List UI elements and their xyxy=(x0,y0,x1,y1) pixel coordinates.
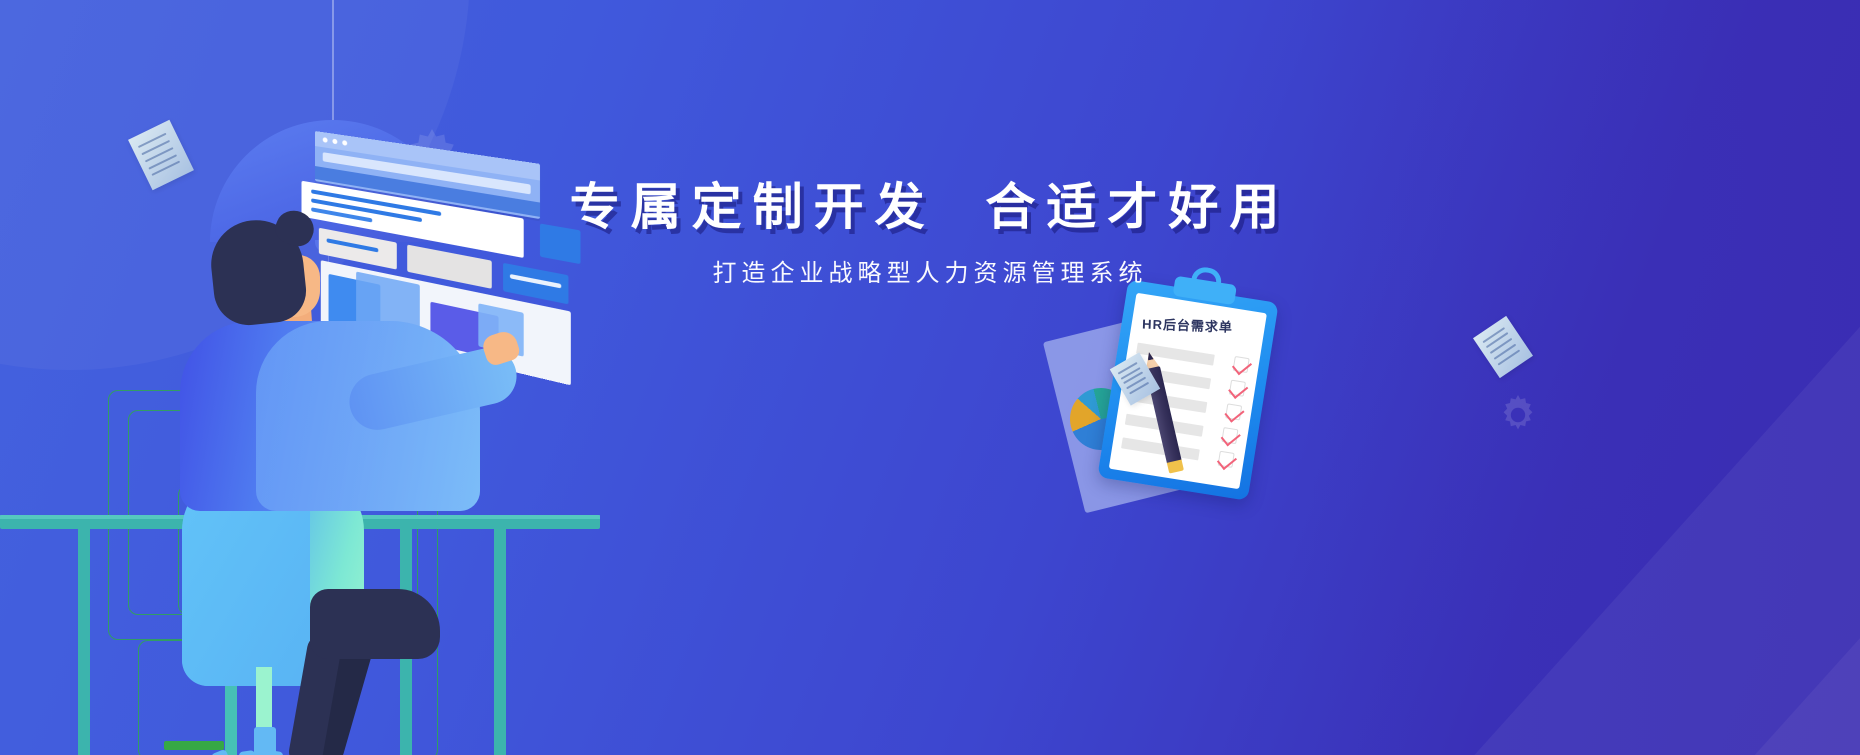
illustration-hr-clipboard: HR后台需求单 xyxy=(1010,270,1350,540)
checkmark-icon xyxy=(1218,451,1235,468)
traffic-dot-maximize xyxy=(342,140,347,146)
page-title: 专属定制开发 合适才好用 xyxy=(570,178,1291,237)
traffic-dot-close xyxy=(323,137,328,143)
green-accent-bar xyxy=(164,741,224,750)
person-thigh xyxy=(310,589,440,659)
hero-banner: 专属定制开发 合适才好用 打造企业战略型人力资源管理系统 xyxy=(0,0,1860,755)
gear-icon xyxy=(1498,395,1538,440)
clipboard-title: HR后台需求单 xyxy=(1142,314,1233,336)
lamp-cord xyxy=(332,0,334,120)
checkmark-icon xyxy=(1225,403,1242,420)
checklist-line xyxy=(1121,437,1200,460)
traffic-dot-minimize xyxy=(332,139,337,145)
desk-leg xyxy=(78,529,90,755)
headline-block: 专属定制开发 合适才好用 打造企业战略型人力资源管理系统 xyxy=(0,178,1860,288)
desk-leg xyxy=(494,529,506,755)
page-subtitle: 打造企业战略型人力资源管理系统 xyxy=(0,253,1860,288)
checkmark-icon xyxy=(1229,380,1246,397)
checkmark-icon xyxy=(1233,356,1250,373)
checkmark-icon xyxy=(1221,427,1238,444)
